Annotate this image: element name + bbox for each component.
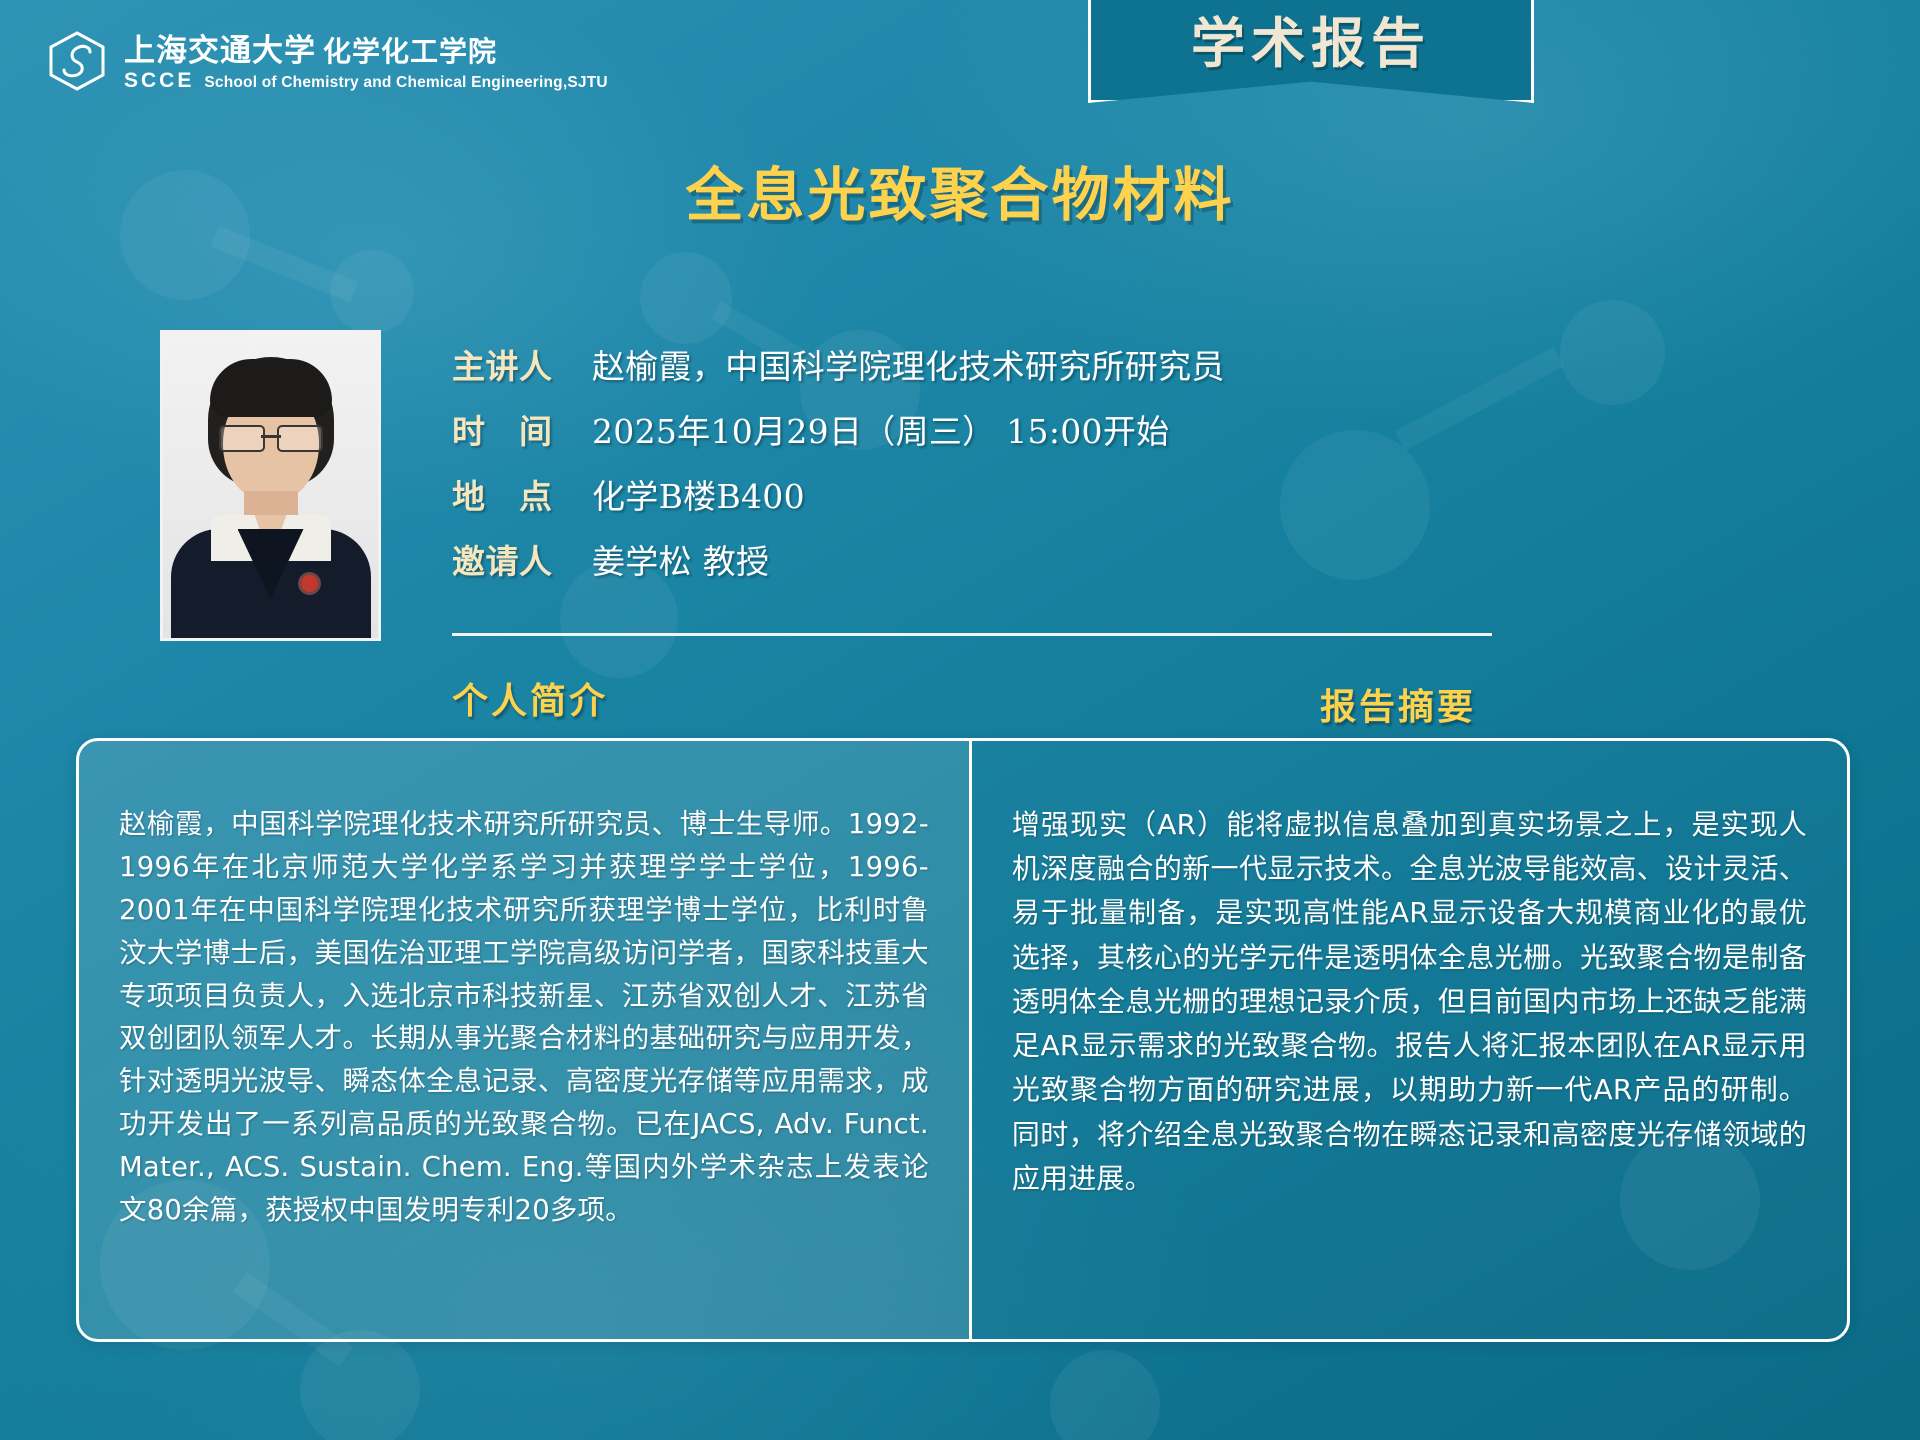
hexagon-scce-logo-icon: [46, 30, 108, 98]
decor-blob: [330, 250, 414, 334]
info-row-time: 时 间 2025年10月29日（周三） 15:00开始: [452, 405, 1492, 453]
decor-bond: [211, 226, 358, 303]
bio-text: 赵榆霞，中国科学院理化技术研究所研究员、博士生导师。1992-1996年在北京师…: [119, 803, 929, 1232]
logo-university-cn: 上海交通大学: [124, 33, 316, 69]
bio-heading: 个人简介: [452, 672, 608, 724]
info-value-time: 2025年10月29日（周三） 15:00开始: [592, 405, 1169, 453]
info-value-venue: 化学B楼B400: [592, 470, 805, 518]
info-row-venue: 地 点 化学B楼B400: [452, 470, 1492, 518]
decor-blob: [1050, 1350, 1160, 1440]
logo-chinese-name: 上海交通大学化学化工学院: [124, 36, 608, 67]
bio-panel: 赵榆霞，中国科学院理化技术研究所研究员、博士生导师。1992-1996年在北京师…: [79, 741, 972, 1339]
logo-department-cn: 化学化工学院: [323, 35, 497, 68]
abstract-text: 增强现实（AR）能将虚拟信息叠加到真实场景之上，是实现人机深度融合的新一代显示技…: [1012, 803, 1807, 1201]
content-panels: 赵榆霞，中国科学院理化技术研究所研究员、博士生导师。1992-1996年在北京师…: [76, 738, 1850, 1342]
info-label-venue: 地 点: [452, 470, 592, 518]
eyeglasses-icon: [219, 425, 323, 448]
academic-report-badge: 学术报告: [1088, 0, 1534, 103]
page-title: 全息光致聚合物材料: [0, 148, 1920, 232]
info-label-speaker: 主讲人: [452, 340, 592, 388]
abstract-panel: 增强现实（AR）能将虚拟信息叠加到真实场景之上，是实现人机深度融合的新一代显示技…: [972, 741, 1847, 1339]
decor-blob: [1560, 300, 1665, 405]
speaker-info-list: 主讲人 赵榆霞，中国科学院理化技术研究所研究员 时 间 2025年10月29日（…: [452, 340, 1492, 600]
info-row-speaker: 主讲人 赵榆霞，中国科学院理化技术研究所研究员: [452, 340, 1492, 388]
abstract-heading: 报告摘要: [1320, 678, 1476, 730]
badge-label: 学术报告: [1191, 0, 1431, 78]
logo-abbreviation: SCCE: [124, 69, 194, 93]
seminar-poster: 上海交通大学化学化工学院 SCCE School of Chemistry an…: [0, 0, 1920, 1440]
info-row-inviter: 邀请人 姜学松 教授: [452, 535, 1492, 583]
info-value-speaker: 赵榆霞，中国科学院理化技术研究所研究员: [592, 340, 1225, 388]
decor-blob: [300, 1330, 420, 1440]
sjtu-scce-logo: 上海交通大学化学化工学院 SCCE School of Chemistry an…: [46, 30, 608, 98]
logo-english-name: School of Chemistry and Chemical Enginee…: [204, 74, 607, 92]
divider-line: [452, 633, 1492, 636]
decor-blob: [640, 252, 732, 344]
info-label-time: 时 间: [452, 405, 592, 453]
info-value-inviter: 姜学松 教授: [592, 535, 769, 583]
info-label-inviter: 邀请人: [452, 535, 592, 583]
speaker-photo: [160, 330, 381, 641]
